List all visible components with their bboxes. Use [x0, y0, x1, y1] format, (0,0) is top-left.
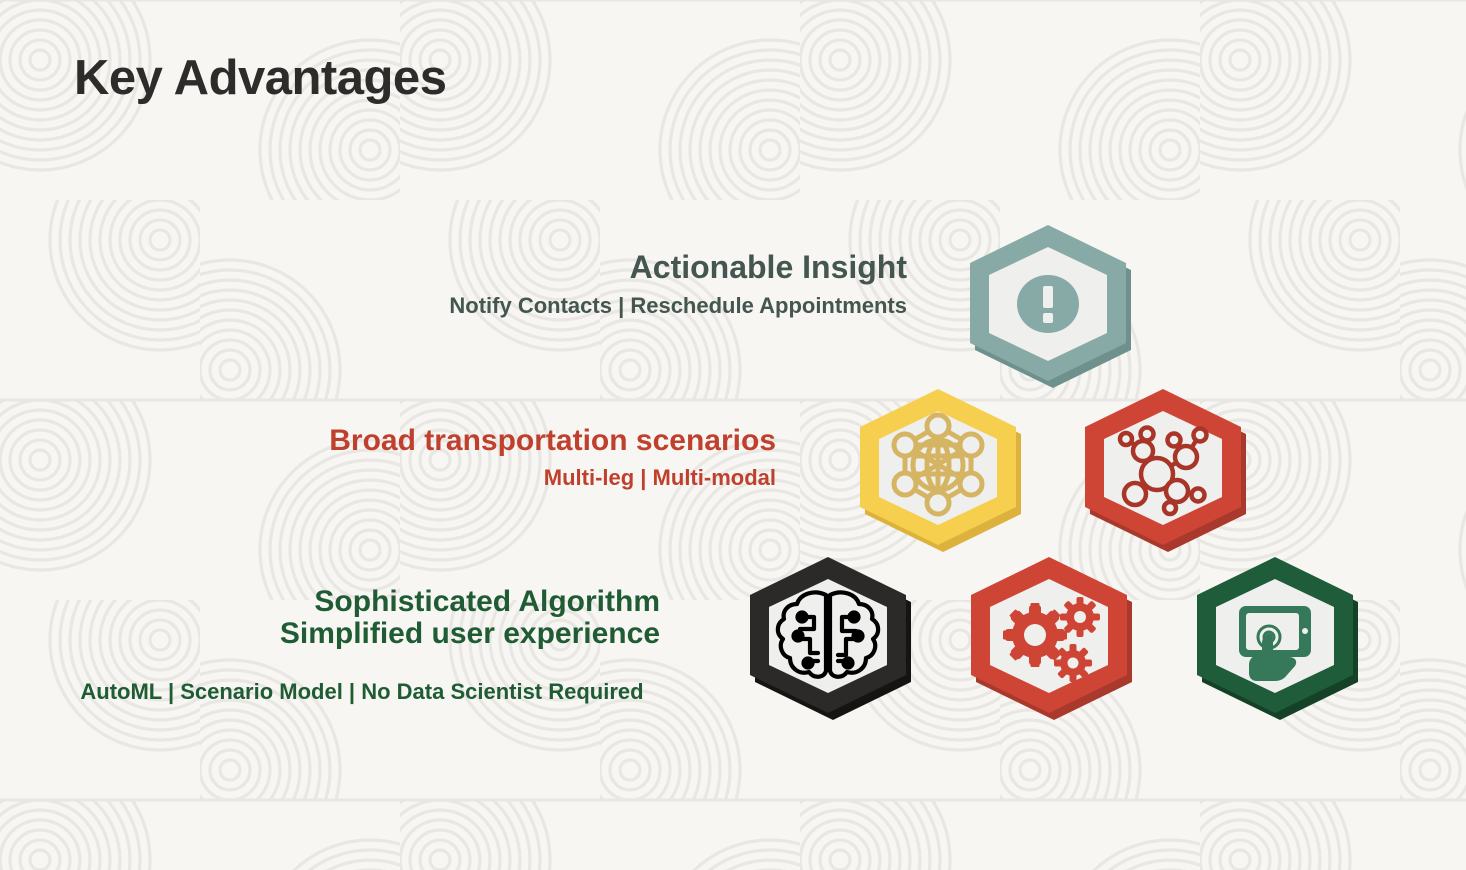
hexagon-gears[interactable]: [959, 545, 1139, 719]
block-subtitle-actionable-insight: Notify Contacts | Reschedule Appointment…: [300, 293, 907, 318]
hexagon-touchscreen[interactable]: [1185, 545, 1365, 719]
text-block-actionable-insight: Actionable Insight Notify Contacts | Res…: [300, 250, 907, 319]
block-subtitle-broad-transportation: Multi-leg | Multi-modal: [180, 465, 776, 490]
block-heading-sophisticated-algorithm-line2: Simplified user experience: [40, 618, 660, 650]
exclamation-icon: [1017, 275, 1079, 333]
hexagon-globe-network[interactable]: [848, 377, 1028, 551]
text-block-broad-transportation: Broad transportation scenarios Multi-leg…: [180, 425, 776, 490]
ai-brain-icon: [778, 592, 878, 676]
block-heading-broad-transportation: Broad transportation scenarios: [180, 425, 776, 457]
block-heading-sophisticated-algorithm-line1: Sophisticated Algorithm: [40, 586, 660, 618]
block-heading-actionable-insight: Actionable Insight: [300, 250, 907, 284]
hexagon-actionable-insight[interactable]: [958, 213, 1138, 387]
block-subtitle-sophisticated-algorithm: AutoML | Scenario Model | No Data Scient…: [40, 679, 660, 704]
hexagon-molecule-nodes[interactable]: [1073, 377, 1253, 551]
hexagon-ai-brain[interactable]: [738, 545, 918, 719]
slide-canvas: Key Advantages Actionable Insight Notify…: [0, 0, 1466, 870]
text-block-sophisticated-algorithm: Sophisticated Algorithm Simplified user …: [40, 586, 660, 704]
page-title: Key Advantages: [74, 50, 446, 106]
